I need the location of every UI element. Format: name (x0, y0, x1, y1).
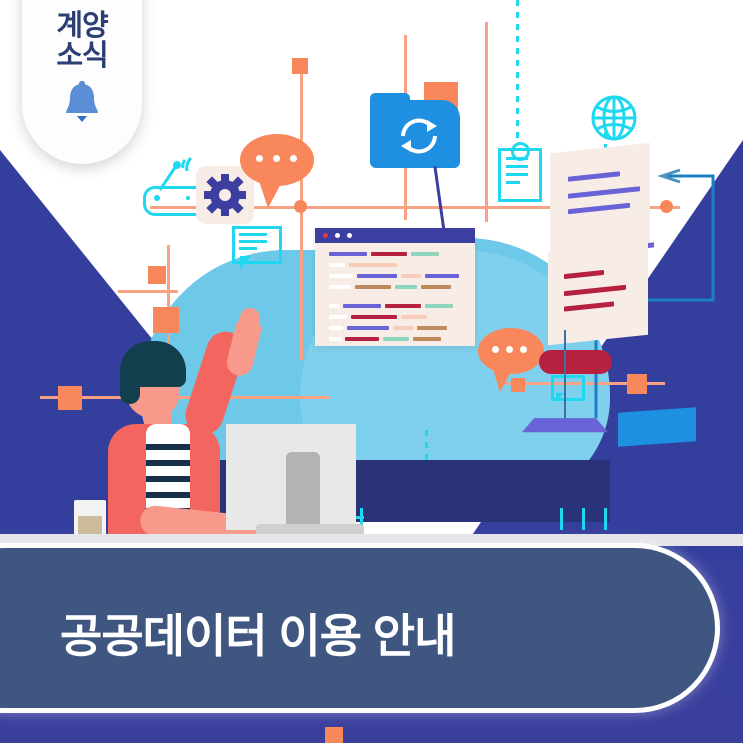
code-line-segment (371, 252, 407, 256)
code-line-segment (329, 252, 367, 256)
globe-icon (590, 94, 638, 142)
gyeyang-news-badge[interactable]: 계양 소식 (22, 0, 142, 164)
code-line-segment (395, 285, 417, 289)
code-line-segment (411, 252, 439, 256)
page-title: 공공데이터 이용 안내 (60, 548, 455, 718)
blue-rectangle (618, 407, 696, 446)
code-line-segment (329, 304, 339, 308)
code-line-segment (329, 315, 347, 319)
gear-icon (204, 174, 246, 216)
code-line-segment (345, 337, 379, 341)
code-line-segment (413, 337, 441, 341)
code-line-segment (401, 315, 427, 319)
code-line-segment (351, 315, 397, 319)
bottom-banner[interactable]: 공공데이터 이용 안내 (0, 543, 720, 713)
code-line-segment (355, 285, 391, 289)
code-line-segment (329, 285, 351, 289)
code-line-segment (417, 326, 447, 330)
code-line-segment (425, 304, 453, 308)
code-line-segment (329, 274, 353, 278)
code-line-segment (421, 285, 451, 289)
code-line-segment (329, 337, 341, 341)
crimson-pill (539, 350, 612, 374)
code-line-segment (383, 337, 409, 341)
code-line-segment (385, 304, 421, 308)
code-line-segment (329, 263, 345, 267)
code-line-segment (347, 326, 389, 330)
code-line-segment (401, 274, 421, 278)
code-line-segment (329, 326, 343, 330)
code-line-segment (357, 274, 397, 278)
bell-icon (59, 80, 105, 126)
code-line-segment (393, 326, 413, 330)
badge-line-2: 소식 (56, 42, 107, 72)
code-line-segment (425, 274, 459, 278)
promo-card-canvas: 공공데이터 이용 안내 계양 소식 (0, 0, 743, 743)
badge-line-1: 계양 (56, 12, 107, 42)
code-line-segment (343, 304, 381, 308)
code-line-segment (349, 263, 397, 267)
